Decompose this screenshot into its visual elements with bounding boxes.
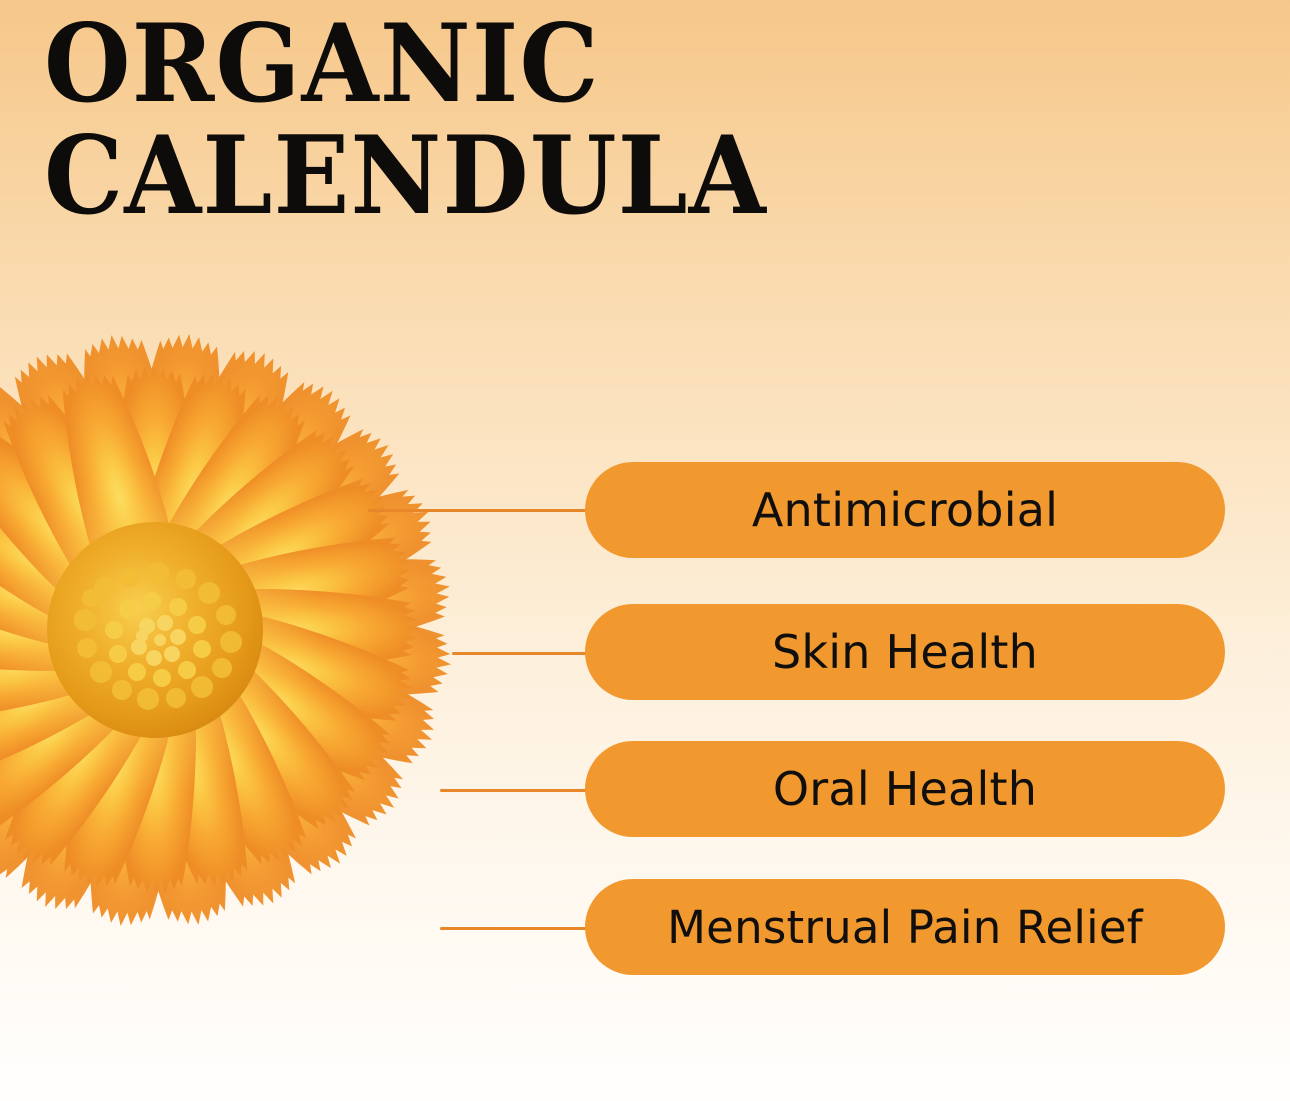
page-title: ORGANIC CALENDULA [44,12,944,230]
benefit-pill-menstrual-pain-relief[interactable]: Menstrual Pain Relief [585,879,1225,975]
benefit-pill-oral-health[interactable]: Oral Health [585,741,1225,837]
benefit-pill-skin-health[interactable]: Skin Health [585,604,1225,700]
benefit-label: Oral Health [773,766,1037,812]
connector-line-4 [440,927,592,930]
organic-calendula-infographic: ORGANIC CALENDULA [0,0,1290,1101]
flower-petal-ring-back [0,330,457,932]
benefit-label: Skin Health [772,629,1038,675]
benefit-pill-antimicrobial[interactable]: Antimicrobial [585,462,1225,558]
flower-center-glow [0,462,323,798]
title-line-calendula: CALENDULA [44,124,872,230]
connector-line-2 [452,652,592,655]
calendula-flower-illustration [0,330,610,1101]
title-line-organic: ORGANIC [44,12,872,118]
benefit-label: Menstrual Pain Relief [667,905,1143,950]
benefit-label: Antimicrobial [752,487,1058,533]
flower-svg [0,330,610,1101]
flower-petal-ring-front [0,364,421,895]
flower-disc [47,522,263,738]
connector-line-3 [440,789,592,792]
connector-line-1 [368,509,590,512]
